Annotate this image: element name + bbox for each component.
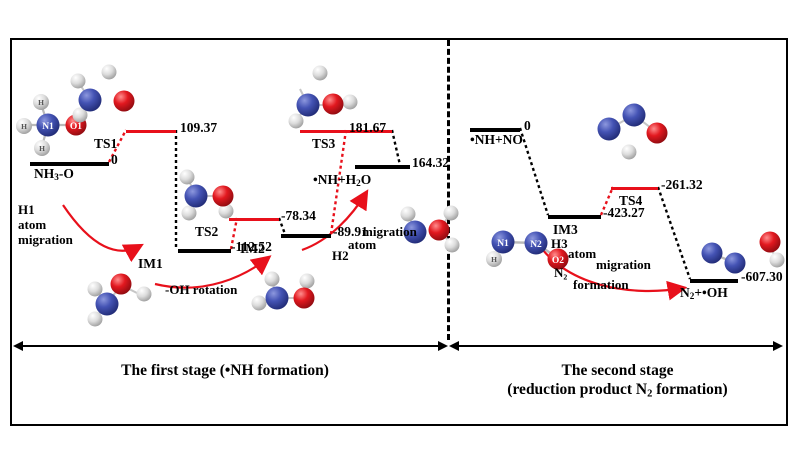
level-bar-im1	[178, 249, 231, 253]
level-bar-nh-h2o	[355, 165, 410, 169]
value-ts4: -261.32	[661, 177, 703, 193]
stage2-axis-arrow-left	[449, 341, 459, 351]
label-nh3o: NH3-O	[34, 166, 74, 182]
annotation-oh-rotation: -OH rotation	[165, 282, 237, 298]
annotation-h1-line2: atom	[18, 217, 46, 233]
value-nh3o: 0	[111, 152, 118, 168]
stage1-axis-arrow-right	[438, 341, 448, 351]
level-bar-ts1	[126, 130, 176, 133]
level-bar-im3	[548, 215, 601, 219]
annotation-h2-line3: migration	[362, 224, 417, 240]
label-ts4: TS4	[619, 193, 642, 209]
label-n2-oh: N2+•OH	[680, 285, 728, 301]
label-ts2: TS2	[195, 224, 218, 240]
annotation-h2-line1: H2	[332, 248, 349, 264]
value-ts3: 181.67	[349, 120, 386, 136]
annotation-h3-line2: atom	[568, 246, 596, 262]
value-nh-no: 0	[524, 118, 531, 134]
level-bar-ts4	[611, 187, 658, 190]
stage-divider	[447, 40, 450, 340]
annotation-h1-line3: migration	[18, 232, 73, 248]
value-nh-h2o: 164.32	[412, 155, 449, 171]
stage1-caption: The first stage (•NH formation)	[0, 362, 450, 380]
label-im2: IM2	[240, 241, 265, 257]
annotation-n2-line2: formation	[573, 277, 629, 293]
label-ts1: TS1	[94, 136, 117, 152]
level-bar-ts2	[229, 218, 279, 221]
value-ts2: -78.34	[281, 208, 316, 224]
stage2-caption-line1: The second stage	[455, 362, 780, 380]
stage2-axis	[457, 345, 775, 347]
level-bar-n2-oh	[690, 279, 738, 283]
stage2-caption-line2: (reduction product N2 formation)	[455, 381, 780, 399]
annotation-h1-line1: H1	[18, 202, 35, 218]
annotation-h3-line1: H3	[551, 236, 568, 252]
stage1-axis-arrow-left	[13, 341, 23, 351]
level-bar-im2	[281, 234, 331, 238]
label-nh-h2o: •NH+H2O	[313, 172, 371, 188]
value-n2-oh: -607.30	[741, 269, 783, 285]
annotation-h3-line3: migration	[596, 257, 651, 273]
label-im1: IM1	[138, 256, 163, 272]
stage2-axis-arrow-right	[773, 341, 783, 351]
value-ts1: 109.37	[180, 120, 217, 136]
annotation-n2-line1: N₂	[554, 265, 567, 281]
figure-canvas: N1 O1 H H H	[0, 0, 800, 450]
label-ts3: TS3	[312, 136, 335, 152]
stage1-axis	[22, 345, 440, 347]
label-nh-no: •NH+NO	[470, 132, 523, 148]
